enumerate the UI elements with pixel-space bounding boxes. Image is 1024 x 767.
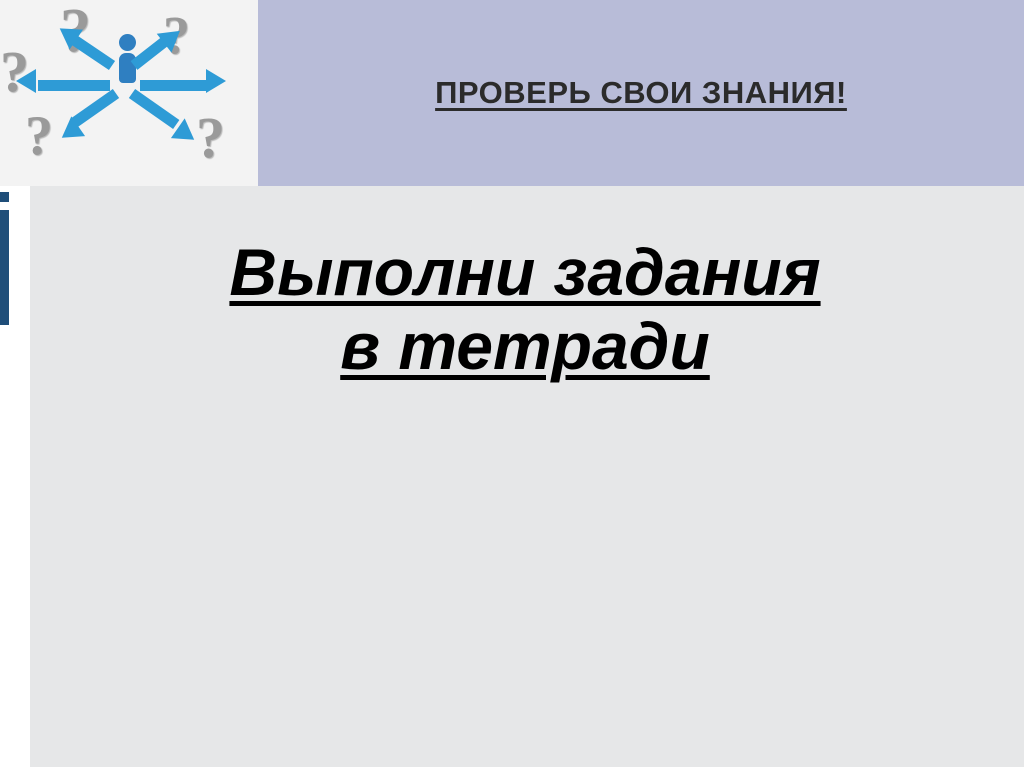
question-marks-arrows-illustration: ? ? ? ? ? [0,0,258,186]
presentation-slide: ? ? ? ? ? [0,0,1024,767]
main-heading: Выполни задания в тетради [60,236,990,384]
arrow-down-left [70,89,119,128]
arrow-right [140,80,208,91]
header-band: ? ? ? ? ? [0,0,1024,186]
question-mark-icon: ? [196,104,225,171]
arrow-head-left [16,69,36,93]
person-head-icon [119,34,136,51]
slide-title: ПРОВЕРЬ СВОИ ЗНАНИЯ! [258,0,1024,186]
question-mark-icon: ? [25,104,53,168]
arrow-head-right [206,69,226,93]
left-accent-mark [0,192,9,202]
slide-title-text: ПРОВЕРЬ СВОИ ЗНАНИЯ! [435,75,847,111]
main-heading-line-2: в тетради [340,310,710,384]
arrow-left [38,80,110,91]
left-accent-bar [0,210,9,325]
main-heading-line-1: Выполни задания [229,236,820,310]
arrow-down-right [129,89,180,129]
